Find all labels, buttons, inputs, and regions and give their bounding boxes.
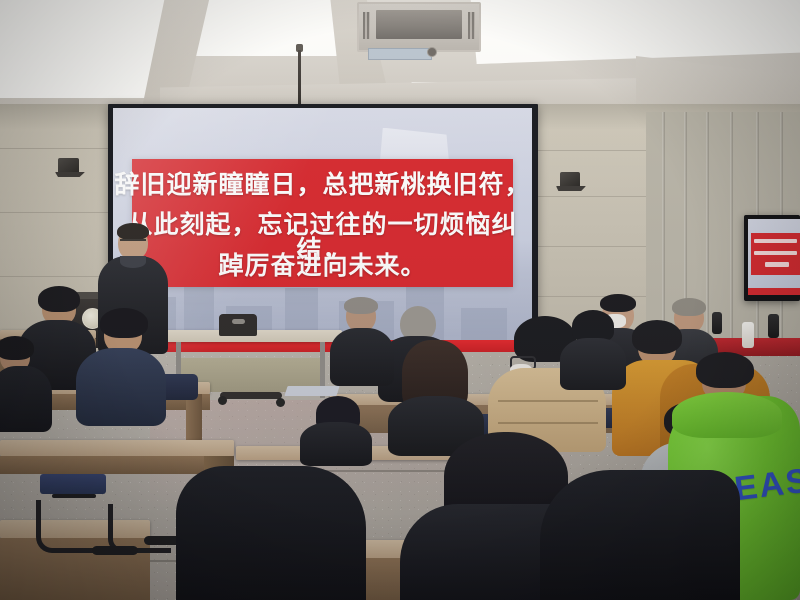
puffer-seam — [498, 400, 598, 402]
attendee-torso — [330, 328, 394, 386]
speaker-bracket — [556, 186, 586, 191]
meeting-room-scene: 辞旧迎新瞳瞳日，总把新桃换旧符， 从此刻起，忘记过往的一切烦恼纠结， 踔厉奋进向… — [0, 0, 800, 600]
attendee-hair — [696, 352, 754, 388]
attendee-torso — [560, 338, 626, 390]
thermos-flask — [768, 314, 779, 338]
chair-foot — [92, 546, 138, 555]
presenter-hair — [117, 223, 149, 240]
ac-grille — [376, 10, 462, 39]
desk-surface — [0, 440, 234, 456]
attendee-torso — [0, 366, 52, 432]
chair-handle-cutout — [232, 319, 245, 324]
attendee-left-edge — [0, 342, 52, 432]
attendee-hair — [0, 336, 34, 360]
attendee-hair — [100, 308, 148, 338]
front-chair — [219, 314, 257, 336]
attendee-left-front — [76, 314, 166, 426]
attendee-torso — [76, 348, 166, 426]
jacket-hood — [672, 392, 782, 438]
chair-seat — [40, 474, 106, 494]
side-monitor-line-2 — [754, 251, 797, 255]
speaker-body — [560, 172, 580, 188]
attendee-foreground-left — [176, 456, 366, 600]
speaker-bracket — [55, 172, 85, 177]
wall-tile-seam — [0, 212, 114, 213]
wall-tile-seam — [0, 148, 114, 149]
attendee-coat — [176, 466, 366, 600]
table-caster — [276, 398, 285, 407]
attendee-hair — [344, 297, 378, 314]
puffer-seam — [498, 422, 598, 424]
paper-document — [284, 386, 339, 396]
side-monitor-line-3 — [765, 262, 789, 266]
ceiling-light-panel — [470, 0, 800, 64]
chair-leg-frame — [36, 500, 105, 553]
presenter-collar — [120, 256, 146, 268]
attendee-mid-small — [300, 396, 372, 466]
curtain-fold — [730, 112, 733, 340]
ac-side-louver — [468, 12, 475, 39]
side-monitor-bottom-bar — [748, 288, 800, 295]
ac-tape-patch — [368, 48, 432, 60]
table-caster — [218, 396, 227, 405]
speaker-body — [58, 158, 79, 174]
chair-frame — [52, 494, 96, 498]
attendee-back-left — [330, 300, 394, 386]
side-monitor-banner — [751, 233, 800, 276]
projection-screen: 辞旧迎新瞳瞳日，总把新桃换旧符， 从此刻起，忘记过往的一切烦恼纠结， 踔厉奋进向… — [113, 108, 532, 353]
hanging-cable — [298, 50, 301, 112]
folding-table-foot — [220, 392, 282, 399]
speaker-left — [55, 158, 85, 182]
speaker-right — [556, 172, 586, 196]
slide-line-1: 辞旧迎新瞳瞳日，总把新桃换旧符， — [113, 172, 532, 197]
side-monitor-screen — [748, 219, 800, 295]
presenter-glasses-icon — [120, 239, 146, 246]
attendee-black-hat — [560, 310, 626, 390]
ac-side-louver — [363, 12, 370, 39]
attendee-hair — [38, 286, 80, 312]
attendee-coat — [540, 470, 740, 600]
attendee-torso — [300, 422, 372, 466]
slide-line-3: 踔厉奋进向未来。 — [113, 253, 532, 278]
ceiling-sensor-icon — [427, 47, 437, 57]
attendee-foreground-dark — [540, 470, 740, 600]
air-conditioner-vent — [357, 2, 481, 52]
ceiling — [0, 0, 800, 112]
side-monitor-line-1 — [754, 239, 797, 243]
attendee-hair — [672, 298, 706, 316]
